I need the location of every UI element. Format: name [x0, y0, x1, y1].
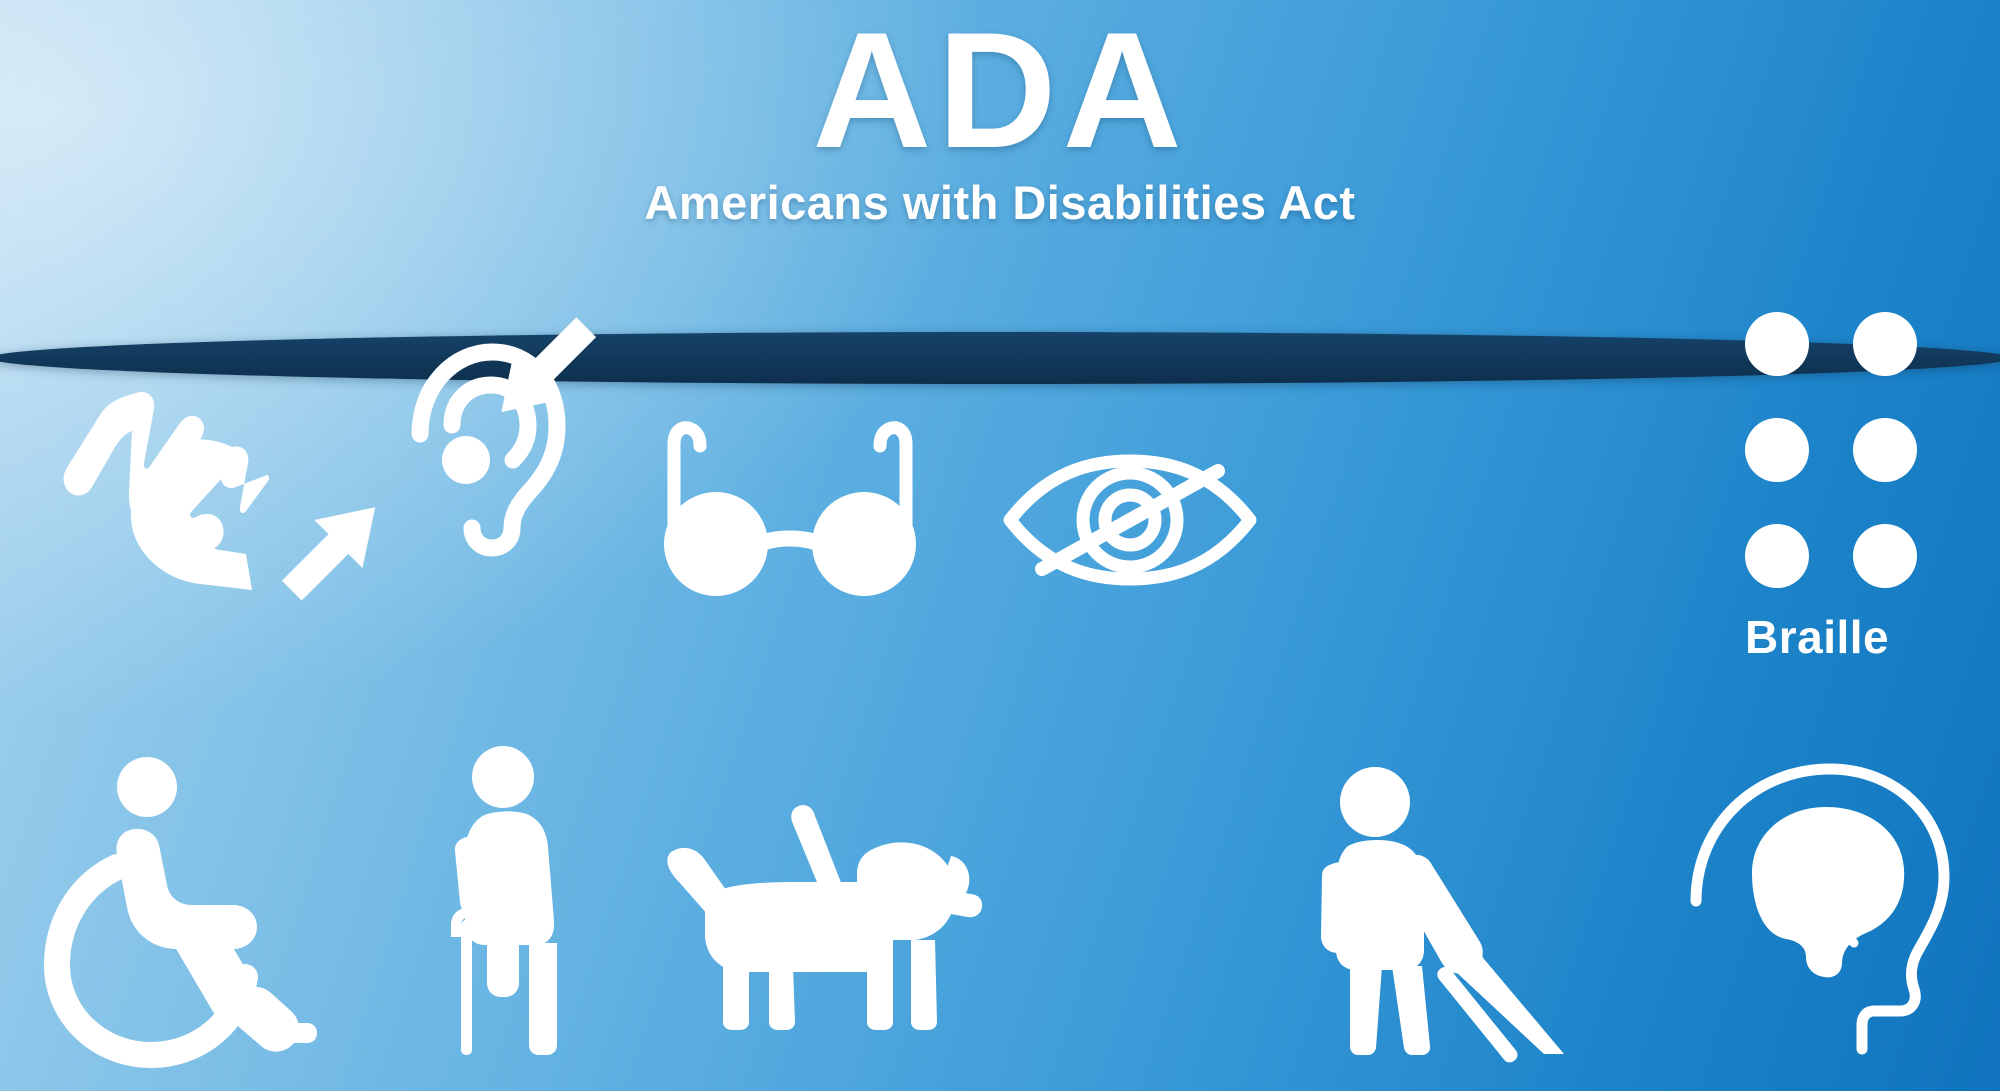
- crutch-amputee-icon: [425, 745, 605, 1055]
- cognitive-brain-icon: [1660, 755, 1960, 1055]
- eyeglasses-icon: [650, 420, 930, 600]
- braille-icon: [1745, 310, 1925, 600]
- assistive-listening-icon: [360, 300, 610, 560]
- page-subtitle: Americans with Disabilities Act: [0, 178, 2000, 228]
- banner-header: ADA Americans with Disabilities Act: [0, 0, 2000, 330]
- low-vision-icon: [1000, 455, 1260, 585]
- guide-dog-icon: [665, 790, 985, 1030]
- sign-language-icon: [40, 385, 310, 605]
- ada-accessibility-banner: ADA Americans with Disabilities Act: [0, 0, 2000, 1091]
- page-title: ADA: [0, 8, 2000, 173]
- braille-label: Braille: [1745, 613, 2000, 661]
- wheelchair-icon: [55, 755, 315, 1055]
- lens-divider: [0, 332, 2000, 384]
- white-cane-icon: [1320, 760, 1610, 1055]
